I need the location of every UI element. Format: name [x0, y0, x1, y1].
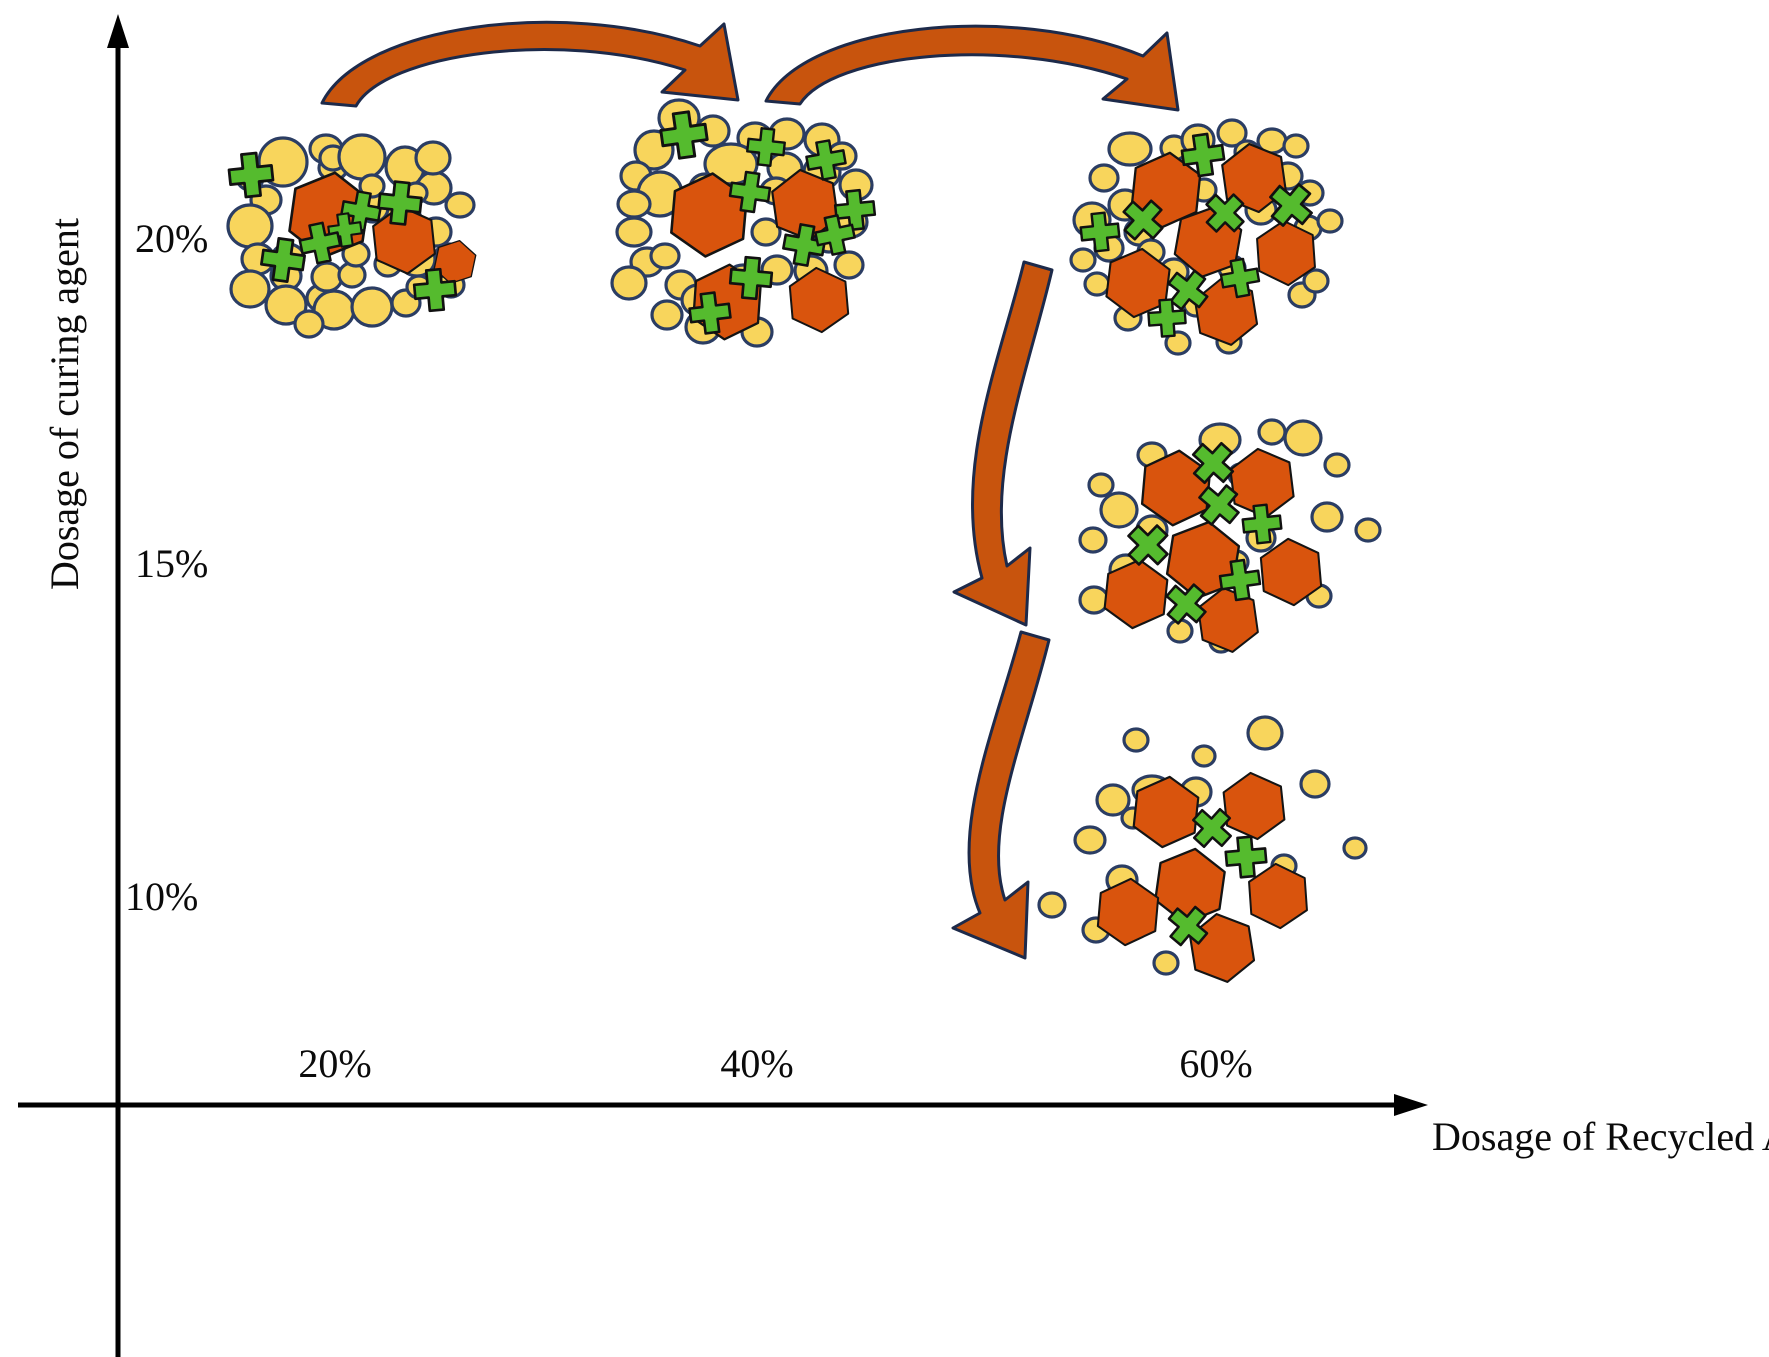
- cluster-60ra-10ca: [1039, 717, 1366, 987]
- axis-y: [107, 14, 129, 1357]
- y-axis-label: Dosage of curing agent: [42, 218, 87, 590]
- x-axis-label: Dosage of Recycled Aggregate: [1432, 1114, 1769, 1159]
- y-tick-label-15: 15%: [135, 541, 208, 586]
- x-tick-label-20: 20%: [298, 1041, 371, 1086]
- arrow-40to60-top: [766, 26, 1178, 110]
- cluster-40ra-20ca: [612, 100, 876, 346]
- axis-x: [18, 1094, 1428, 1116]
- arrow-15ca-to-10ca: [953, 632, 1049, 958]
- cluster-60ra-15ca: [1080, 420, 1380, 656]
- y-axis-arrowhead: [107, 14, 129, 48]
- y-tick-label-10: 10%: [125, 874, 198, 919]
- arrow-20ca-to-15ca: [954, 262, 1052, 625]
- x-tick-label-40: 40%: [720, 1041, 793, 1086]
- arrow-20to40-top: [322, 22, 738, 106]
- cluster-20ra-20ca: [228, 135, 478, 337]
- x-axis-arrowhead: [1394, 1094, 1428, 1116]
- y-tick-label-20: 20%: [135, 216, 208, 261]
- cluster-60ra-20ca: [1071, 120, 1342, 354]
- figure-canvas: Dosage of curing agent Dosage of Recycle…: [0, 0, 1769, 1357]
- schematic-diagram: Dosage of curing agent Dosage of Recycle…: [0, 0, 1769, 1357]
- x-tick-label-60: 60%: [1179, 1041, 1252, 1086]
